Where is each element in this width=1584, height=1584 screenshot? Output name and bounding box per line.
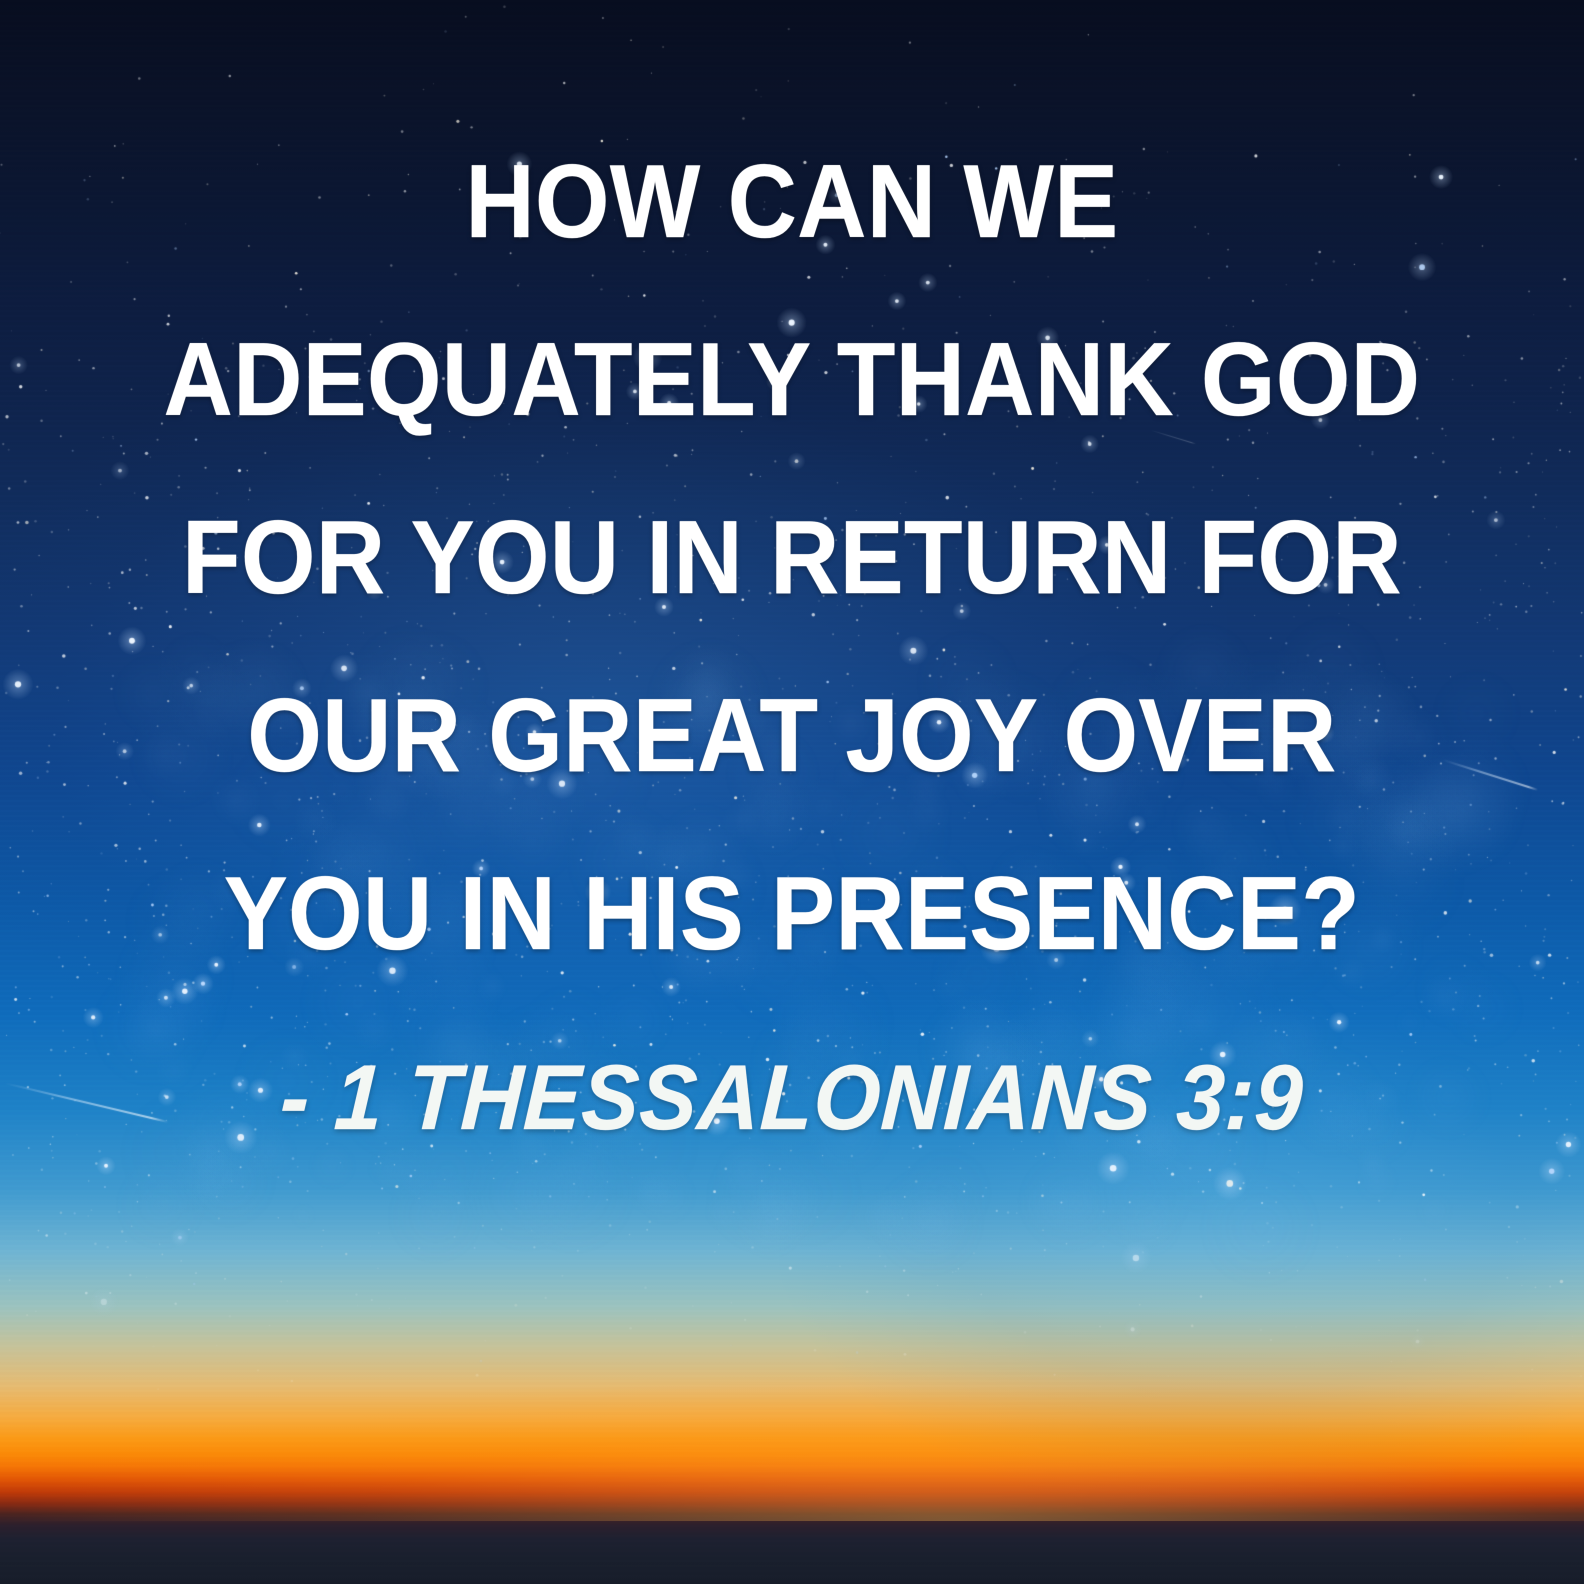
verse-line-3: FOR YOU IN RETURN FOR: [63, 506, 1520, 610]
verse-line-1: HOW CAN WE: [63, 150, 1520, 254]
verse-text-block: HOW CAN WE ADEQUATELY THANK GOD FOR YOU …: [0, 150, 1584, 1144]
scripture-citation: - 1 THESSALONIANS 3:9: [53, 1052, 1531, 1144]
verse-image-canvas: HOW CAN WE ADEQUATELY THANK GOD FOR YOU …: [0, 0, 1584, 1584]
verse-line-2: ADEQUATELY THANK GOD: [63, 328, 1520, 432]
verse-line-4: OUR GREAT JOY OVER: [63, 684, 1520, 788]
verse-line-5: YOU IN HIS PRESENCE?: [63, 862, 1520, 966]
